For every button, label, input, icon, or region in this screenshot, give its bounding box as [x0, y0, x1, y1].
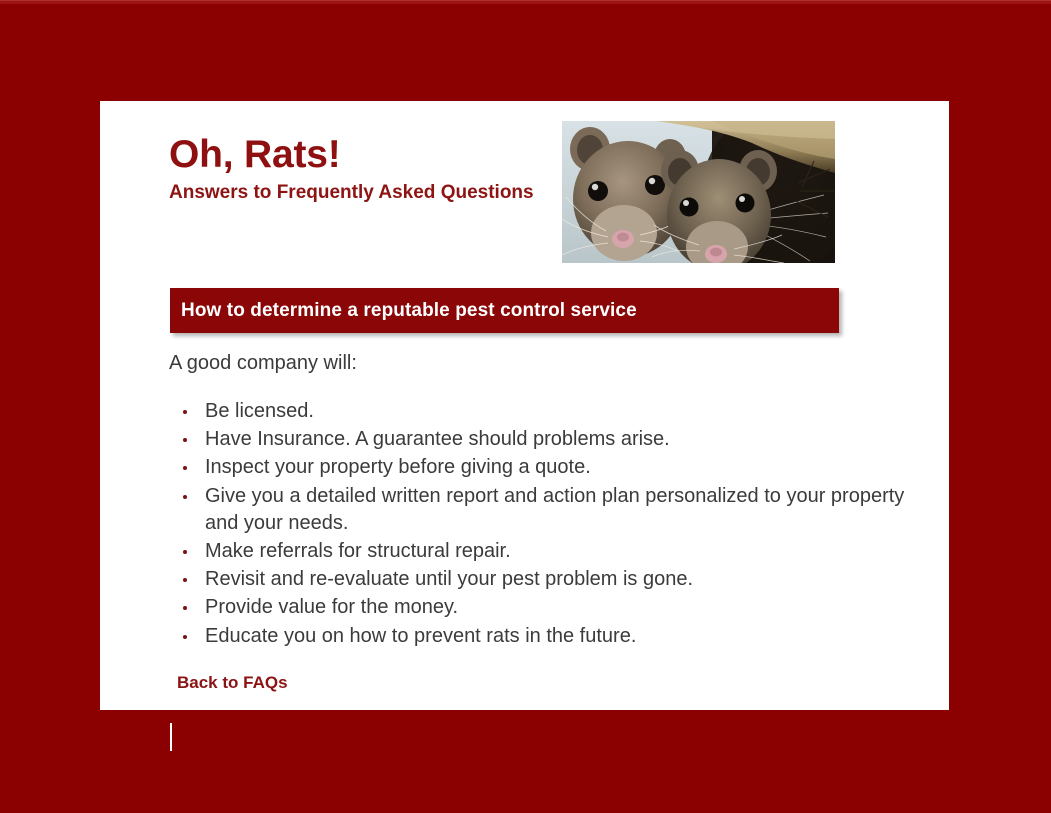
list-item: Have Insurance. A guarantee should probl… — [169, 426, 909, 453]
question-banner-text: How to determine a reputable pest contro… — [170, 300, 637, 322]
slide-card: Oh, Rats! Answers to Frequently Asked Qu… — [100, 101, 949, 710]
list-item: Revisit and re-evaluate until your pest … — [169, 566, 909, 593]
list-item: Inspect your property before giving a qu… — [169, 454, 909, 481]
two-rats-photo — [562, 121, 835, 263]
list-item: Be licensed. — [169, 398, 909, 425]
back-to-faqs-link[interactable]: Back to FAQs — [177, 673, 288, 693]
list-item: Make referrals for structural repair. — [169, 538, 909, 565]
intro-line: A good company will: — [169, 351, 909, 376]
bullet-list: Be licensed. Have Insurance. A guarantee… — [169, 398, 909, 650]
page-top-highlight-line — [0, 0, 1051, 1]
title-block: Oh, Rats! Answers to Frequently Asked Qu… — [169, 135, 589, 204]
slide-header: Oh, Rats! Answers to Frequently Asked Qu… — [100, 101, 949, 271]
list-item: Provide value for the money. — [169, 594, 909, 621]
text-cursor[interactable] — [170, 723, 172, 751]
content-area: A good company will: Be licensed. Have I… — [169, 351, 909, 693]
page-title: Oh, Rats! — [169, 135, 589, 176]
list-item: Give you a detailed written report and a… — [169, 483, 909, 537]
page-top-strip — [0, 0, 1051, 4]
page-subtitle: Answers to Frequently Asked Questions — [169, 182, 589, 204]
question-banner: How to determine a reputable pest contro… — [170, 288, 839, 333]
list-item: Educate you on how to prevent rats in th… — [169, 623, 909, 650]
